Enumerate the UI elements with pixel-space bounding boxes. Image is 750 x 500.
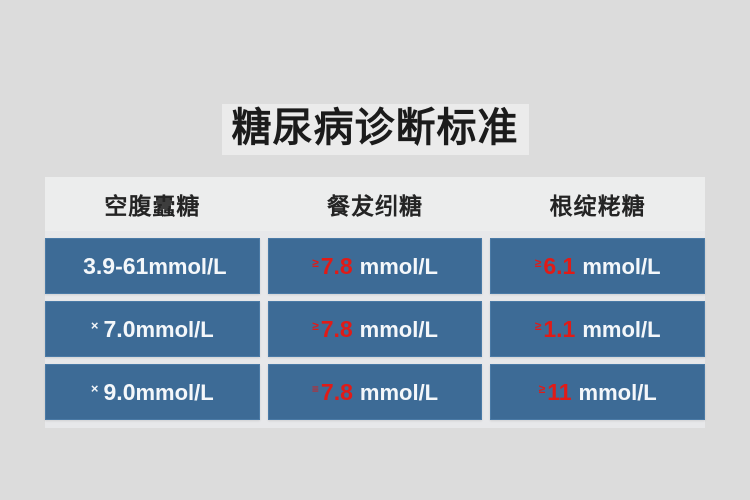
unit-text: mmol/L (360, 317, 438, 343)
value-text: 7.8 (321, 316, 353, 343)
cell-r3c2: ≡ 7.8 mmol/L (268, 364, 483, 420)
unit-text: mmol/L (136, 380, 214, 406)
table-row: 3.9-61 mmol/L ≥ 7.8 mmol/L ≥ 6.1 mmol/L (45, 238, 705, 294)
cell-content: 3.9-61 mmol/L (78, 253, 226, 280)
cell-content: ≥ 7.8 mmol/L (312, 316, 438, 343)
diagnostic-criteria-table: 空腹蠹糖 餐犮纼糖 根绽粩糖 3.9-61 mmol/L ≥ 7.8 mmol/… (45, 177, 705, 428)
cell-content: ≥ 7.8 mmol/L (312, 253, 438, 280)
comparison-mark: ≥ (312, 320, 319, 332)
unit-text: mmol/L (582, 254, 660, 280)
value-text: 7.8 (321, 379, 353, 406)
value-text: 7.0 (104, 316, 136, 343)
page-title-container: 糖尿病诊断标准 (0, 104, 750, 155)
cell-r1c2: ≥ 7.8 mmol/L (268, 238, 483, 294)
value-text: 11 (547, 379, 571, 406)
comparison-mark: × (91, 319, 99, 332)
table-header-row: 空腹蠹糖 餐犮纼糖 根绽粩糖 (45, 177, 705, 231)
comparison-mark: × (91, 382, 99, 395)
cell-r3c3: ≥ 11 mmol/L (490, 364, 705, 420)
table-row: × 7.0 mmol/L ≥ 7.8 mmol/L ≥ 1.1 mmol/L (45, 301, 705, 357)
unit-text: mmol/L (360, 380, 438, 406)
comparison-mark: ≥ (539, 383, 546, 395)
cell-r1c3: ≥ 6.1 mmol/L (490, 238, 705, 294)
comparison-mark: ≥ (535, 320, 542, 332)
column-header-fasting-glucose: 空腹蠹糖 (45, 177, 260, 231)
column-header-postprandial-glucose: 餐犮纼糖 (268, 177, 483, 231)
value-text: 1.1 (543, 316, 575, 343)
table-row: × 9.0 mmol/L ≡ 7.8 mmol/L ≥ 11 mmol/L (45, 364, 705, 420)
cell-content: × 7.0 mmol/L (91, 316, 214, 343)
comparison-mark: ≥ (535, 257, 542, 269)
cell-content: ≥ 1.1 mmol/L (535, 316, 661, 343)
cell-r2c2: ≥ 7.8 mmol/L (268, 301, 483, 357)
cell-r1c1: 3.9-61 mmol/L (45, 238, 260, 294)
table-bottom-spacer (45, 420, 705, 428)
cell-content: ≥ 6.1 mmol/L (535, 253, 661, 280)
value-text: 3.9-61 (83, 253, 148, 280)
comparison-mark: ≡ (312, 383, 319, 395)
value-text: 6.1 (543, 253, 575, 280)
unit-text: mmol/L (582, 317, 660, 343)
cell-r2c1: × 7.0 mmol/L (45, 301, 260, 357)
column-header-random-glucose: 根绽粩糖 (490, 177, 705, 231)
cell-content: × 9.0 mmol/L (91, 379, 214, 406)
cell-content: ≥ 11 mmol/L (539, 379, 657, 406)
cell-r3c1: × 9.0 mmol/L (45, 364, 260, 420)
unit-text: mmol/L (579, 380, 657, 406)
comparison-mark: ≥ (312, 257, 319, 269)
value-text: 7.8 (321, 253, 353, 280)
cell-r2c3: ≥ 1.1 mmol/L (490, 301, 705, 357)
page-title: 糖尿病诊断标准 (222, 104, 529, 155)
unit-text: mmol/L (148, 254, 226, 280)
unit-text: mmol/L (136, 317, 214, 343)
value-text: 9.0 (104, 379, 136, 406)
cell-content: ≡ 7.8 mmol/L (312, 379, 438, 406)
unit-text: mmol/L (360, 254, 438, 280)
